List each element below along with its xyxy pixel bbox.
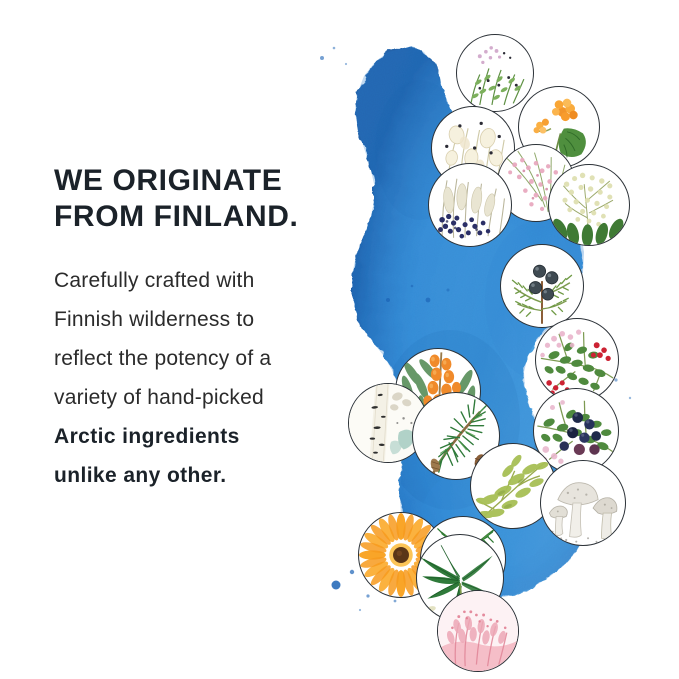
badge-juniper-berries	[500, 244, 584, 328]
badge-crowberry-cluster	[428, 163, 512, 247]
finland-map-illustration	[300, 0, 679, 679]
badge-pink-sea-algae	[437, 590, 519, 672]
cloudberry-main	[552, 99, 578, 121]
badge-heather-sprigs	[456, 34, 534, 112]
badge-forest-mushrooms	[540, 460, 626, 546]
poster-canvas: WE ORIGINATE FROM FINLAND. Carefully cra…	[0, 0, 679, 679]
badge-meadowsweet-blossom	[548, 164, 630, 246]
